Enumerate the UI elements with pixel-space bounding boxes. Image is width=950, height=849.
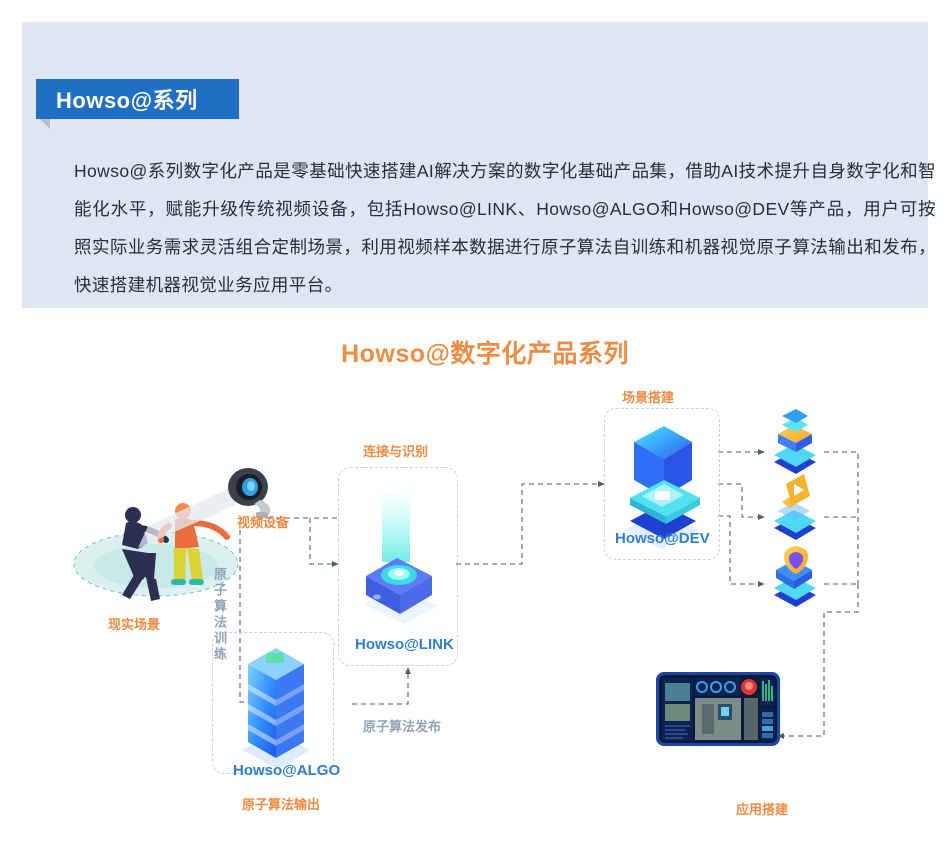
capability-media-icon: [774, 474, 816, 540]
label-atomic-training: 原子算法训练: [210, 567, 229, 663]
label-video-device: 视频设备: [237, 512, 289, 531]
section-badge: Howso@系列: [36, 79, 239, 119]
label-scene-build: 场景搭建: [622, 387, 674, 406]
capability-cube-icon: [774, 409, 816, 474]
cctv-camera-icon: [228, 468, 270, 518]
label-algo-publish: 原子算法发布: [363, 716, 441, 735]
label-app-build: 应用搭建: [736, 799, 788, 818]
group-box-algo: [212, 632, 334, 774]
diagram-stage: 现实场景 视频设备 原子算法训练 连接与识别 Howso@LINK Howso@…: [52, 312, 918, 832]
label-real-scene: 现实场景: [108, 614, 160, 633]
app-dashboard-image: [656, 672, 780, 746]
diagram-card: Howso@数字化产品系列: [52, 312, 918, 832]
section-badge-label: Howso@系列: [56, 83, 198, 115]
label-algo-output: 原子算法输出: [242, 794, 320, 813]
connector-layer: [52, 312, 918, 832]
label-howso-dev: Howso@DEV: [615, 530, 710, 547]
page-root: Howso@系列 Howso@系列数字化产品是零基础快速搭建AI解决方案的数字化…: [0, 0, 950, 849]
capability-shield-icon: [774, 546, 816, 607]
label-connect-identify: 连接与识别: [363, 441, 428, 460]
label-howso-algo: Howso@ALGO: [233, 762, 340, 779]
intro-paragraph: Howso@系列数字化产品是零基础快速搭建AI解决方案的数字化基础产品集，借助A…: [74, 152, 936, 304]
intro-panel: Howso@系列 Howso@系列数字化产品是零基础快速搭建AI解决方案的数字化…: [22, 22, 928, 308]
label-howso-link: Howso@LINK: [355, 636, 454, 653]
